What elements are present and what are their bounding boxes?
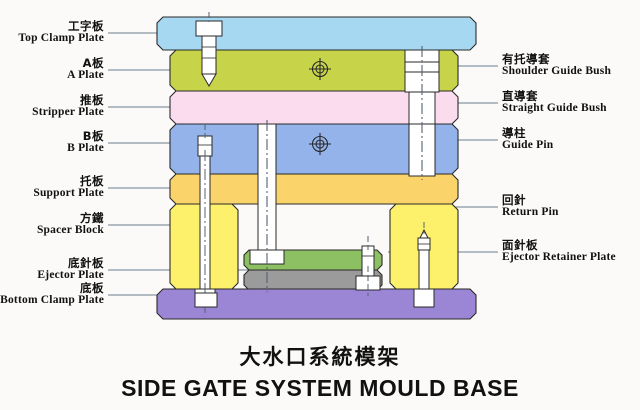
label-stripper-plate-en: Stripper Plate: [0, 106, 104, 118]
label-guide-pin: 導柱 Guide Pin: [502, 127, 640, 152]
label-support-plate-en: Support Plate: [0, 187, 104, 199]
label-a-plate-en: A Plate: [0, 69, 104, 81]
label-ejector-plate: 底針板 Ejector Plate: [0, 257, 104, 282]
label-ejector-plate-en: Ejector Plate: [0, 269, 104, 281]
label-shoulder-guide-bush-cn: 有托導套: [502, 53, 640, 65]
label-return-pin-cn: 回針: [502, 194, 640, 206]
label-bottom-clamp-plate: 底板 Bottom Clamp Plate: [0, 282, 104, 307]
label-support-plate: 托板 Support Plate: [0, 175, 104, 200]
label-top-clamp-plate-en: Top Clamp Plate: [0, 32, 104, 44]
label-ejector-retainer-plate: 面針板 Ejector Retainer Plate: [502, 239, 640, 264]
plate-support-plate: [170, 174, 458, 204]
label-straight-guide-bush: 直導套 Straight Guide Bush: [502, 90, 640, 115]
label-ejector-plate-cn: 底針板: [0, 257, 104, 269]
label-guide-pin-en: Guide Pin: [502, 139, 640, 151]
label-return-pin: 回針 Return Pin: [502, 194, 640, 219]
figure-title: 大水口系統模架 SIDE GATE SYSTEM MOULD BASE: [0, 341, 640, 402]
figure-title-en: SIDE GATE SYSTEM MOULD BASE: [0, 375, 640, 402]
label-b-plate-en: B Plate: [0, 142, 104, 154]
figure-title-cn: 大水口系統模架: [0, 341, 640, 371]
label-top-clamp-plate: 工字板 Top Clamp Plate: [0, 20, 104, 45]
label-top-clamp-plate-cn: 工字板: [0, 20, 104, 32]
label-shoulder-guide-bush-en: Shoulder Guide Bush: [502, 65, 640, 77]
label-spacer-block: 方鐵 Spacer Block: [0, 212, 104, 237]
label-a-plate-cn: A板: [0, 57, 104, 69]
label-straight-guide-bush-en: Straight Guide Bush: [502, 102, 640, 114]
label-stripper-plate: 推板 Stripper Plate: [0, 94, 104, 119]
bottom-cap-screw: [195, 293, 217, 307]
label-support-plate-cn: 托板: [0, 175, 104, 187]
label-straight-guide-bush-cn: 直導套: [502, 90, 640, 102]
label-guide-pin-cn: 導柱: [502, 127, 640, 139]
guide-pin-column: [405, 46, 439, 180]
label-b-plate: B板 B Plate: [0, 130, 104, 155]
label-shoulder-guide-bush: 有托導套 Shoulder Guide Bush: [502, 53, 640, 78]
label-b-plate-cn: B板: [0, 130, 104, 142]
label-bottom-clamp-plate-en: Bottom Clamp Plate: [0, 294, 104, 306]
label-spacer-block-en: Spacer Block: [0, 224, 104, 236]
label-a-plate: A板 A Plate: [0, 57, 104, 82]
label-ejector-retainer-plate-en: Ejector Retainer Plate: [502, 251, 640, 263]
label-spacer-block-cn: 方鐵: [0, 212, 104, 224]
label-return-pin-en: Return Pin: [502, 206, 640, 218]
label-stripper-plate-cn: 推板: [0, 94, 104, 106]
label-bottom-clamp-plate-cn: 底板: [0, 282, 104, 294]
label-ejector-retainer-plate-cn: 面針板: [502, 239, 640, 251]
